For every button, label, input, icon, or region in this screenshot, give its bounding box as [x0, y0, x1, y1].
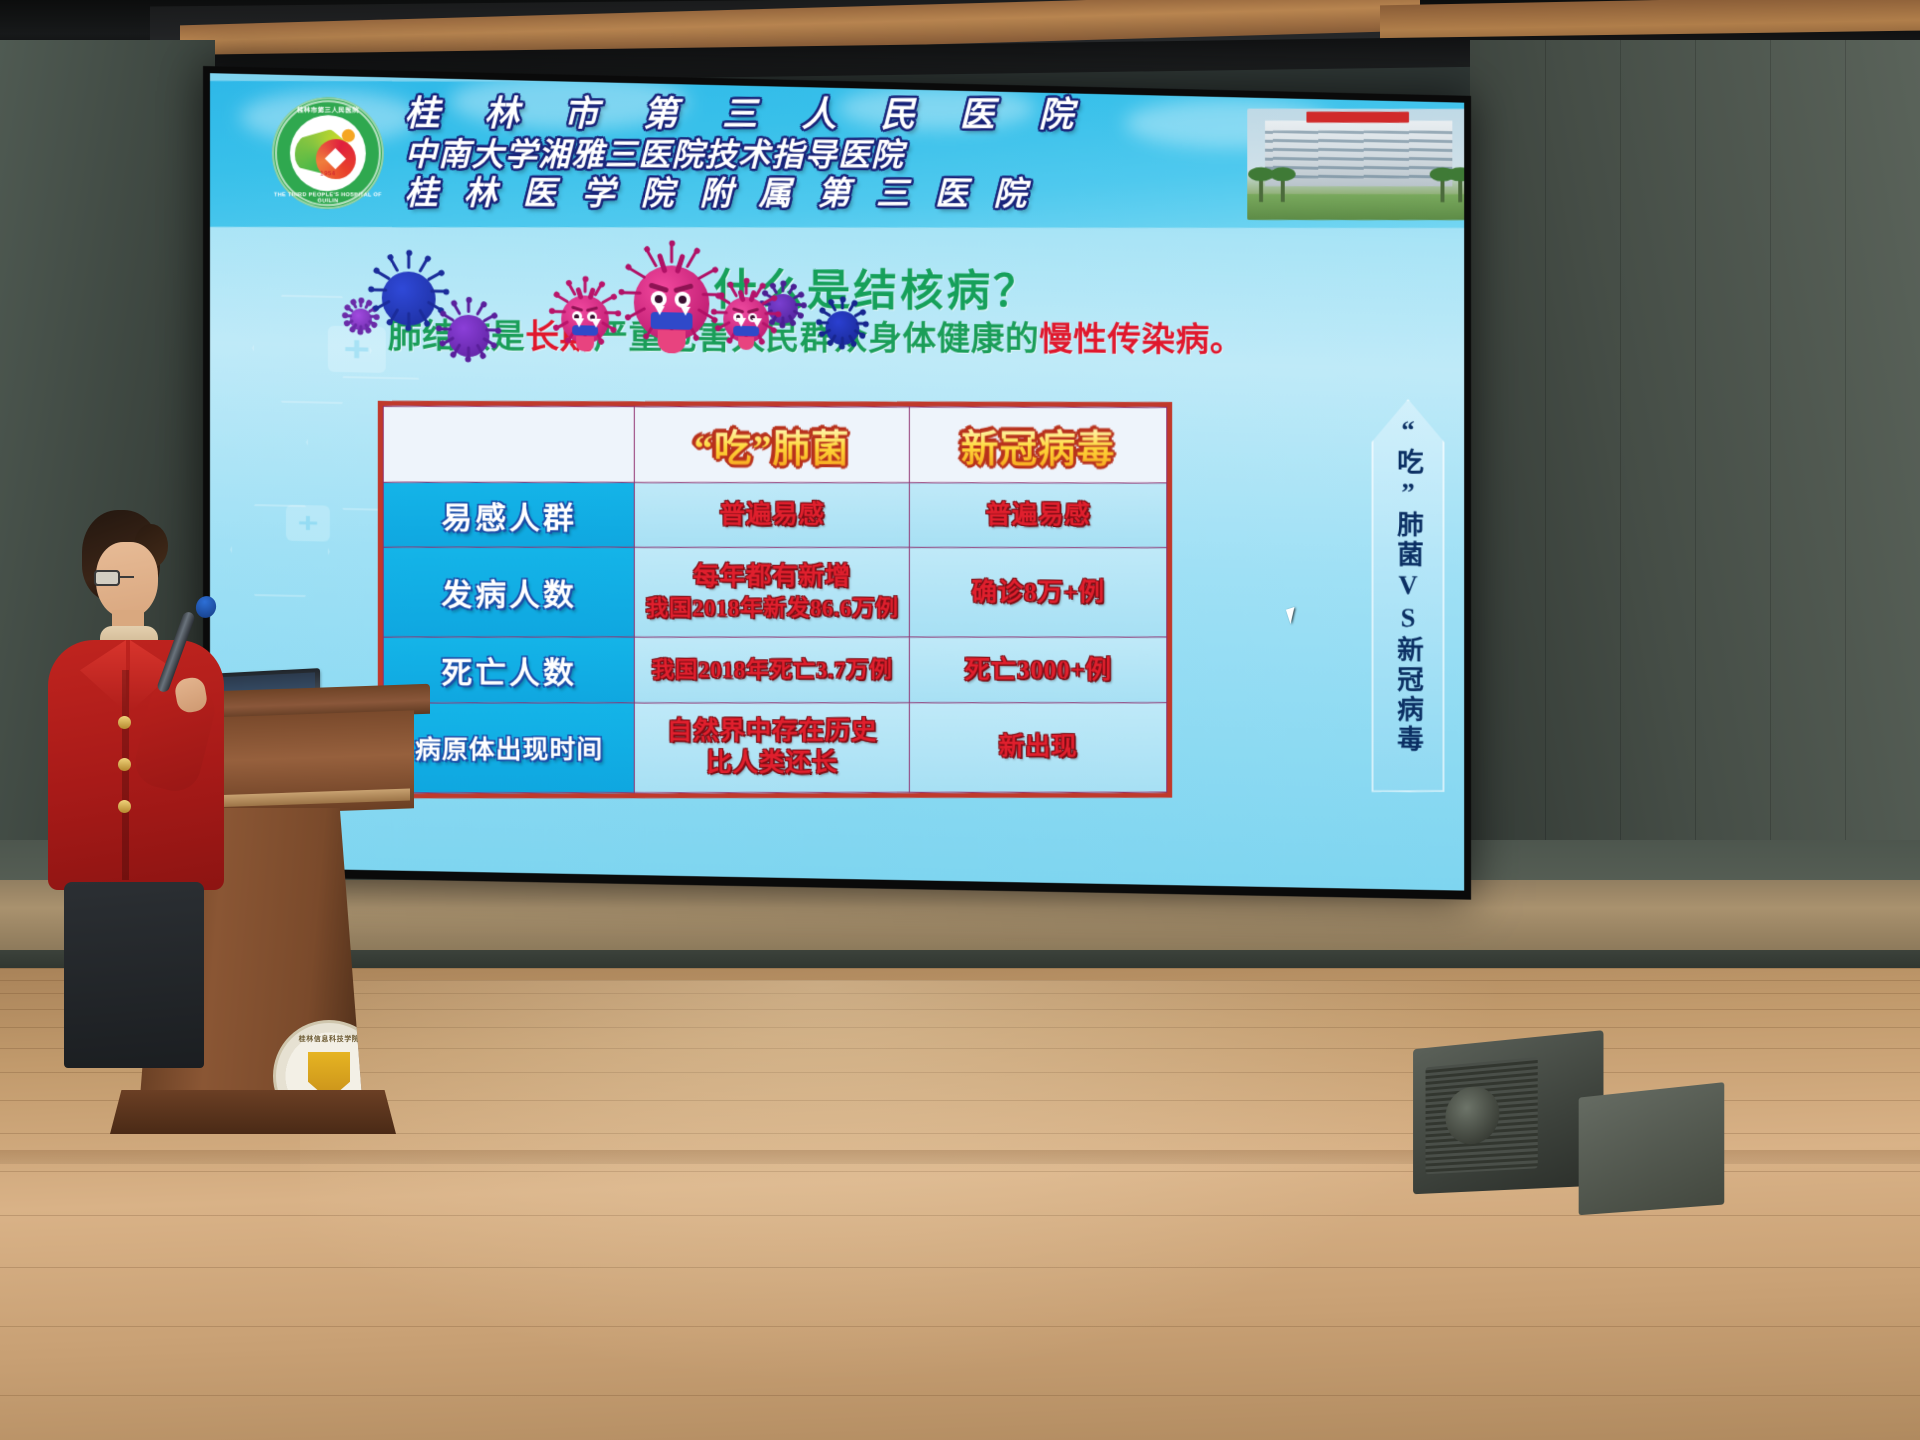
row-label: 死亡人数 — [441, 656, 576, 691]
hospital-name-block: 桂 林 市 第 三 人 民 医 院 中南大学湘雅三医院技术指导医院 桂 林 医 … — [405, 93, 1199, 216]
side-vertical-banner: “吃”肺菌VS新冠病毒 — [1372, 399, 1445, 792]
floor-light-reflection — [300, 980, 1600, 1440]
table-row: 易感人群 普遍易感 普遍易感 — [383, 482, 1166, 548]
coat-button — [118, 800, 131, 813]
purple-virus-icon — [448, 314, 490, 357]
row-value-cv: 新出现 — [909, 703, 1167, 793]
value-text-line2: 我国2018年新发86.6万例 — [639, 593, 904, 625]
header-cell-tb: “吃”肺菌 — [635, 407, 909, 483]
row-value-tb: 每年都有新增 我国2018年新发86.6万例 — [635, 548, 909, 638]
value-text-line2: 比人类还长 — [639, 748, 904, 780]
header-label-cv: 新冠病毒 — [961, 429, 1115, 471]
slide-header-banner: 桂林市第三人民医院 1954 THE THIRD PEOPLE'S HOSPIT… — [210, 81, 1464, 228]
pink-germ-monster-icon — [561, 295, 609, 344]
hospital-building-photo — [1247, 109, 1464, 220]
row-label: 发病人数 — [441, 578, 576, 613]
wall-panel-seams — [1470, 40, 1920, 940]
row-value-tb: 普遍易感 — [635, 482, 909, 547]
hospital-logo: 桂林市第三人民医院 1954 THE THIRD PEOPLE'S HOSPIT… — [272, 97, 384, 209]
row-label-cell: 易感人群 — [383, 482, 635, 547]
wall-right — [1470, 40, 1920, 940]
header-blank-cell — [383, 406, 635, 482]
row-value-tb: 自然界中存在历史 比人类还长 — [635, 703, 909, 793]
presenter-coat-placket — [122, 670, 129, 880]
row-value-cv: 确诊8万+例 — [909, 548, 1167, 638]
header-cell-cv: 新冠病毒 — [909, 407, 1167, 483]
table-row: 发病人数 每年都有新增 我国2018年新发86.6万例 确诊8万+例 — [383, 547, 1166, 637]
side-banner-text: “吃”肺菌VS新冠病毒 — [1372, 415, 1445, 755]
logo-established-year: 1954 — [290, 171, 366, 177]
subtitle-highlight-2: 慢性传染病 — [1039, 321, 1210, 359]
logo-arc-bottom-text: THE THIRD PEOPLE'S HOSPITAL OF GUILIN — [272, 192, 384, 204]
auditorium-room: 桂林市第三人民医院 1954 THE THIRD PEOPLE'S HOSPIT… — [0, 0, 1920, 1440]
loudspeaker-cabinet — [1413, 1030, 1603, 1194]
presenter-glasses — [94, 570, 160, 586]
row-label: 病原体出现时间 — [415, 735, 603, 764]
podium-base — [110, 1090, 396, 1134]
coat-button — [118, 758, 131, 771]
row-value-cv: 普遍易感 — [909, 483, 1167, 548]
table-row: 死亡人数 我国2018年死亡3.7万例 死亡3000+例 — [383, 638, 1166, 703]
table-row: 病原体出现时间 自然界中存在历史 比人类还长 新出现 — [383, 703, 1166, 793]
loudspeaker-cabinet-secondary — [1579, 1082, 1725, 1215]
value-text: 我国2018年死亡3.7万例 — [651, 657, 892, 682]
value-text-line1: 自然界中存在历史 — [639, 716, 904, 748]
purple-virus-icon — [826, 311, 860, 346]
row-label-cell: 发病人数 — [383, 547, 635, 637]
presenter-lower-body — [64, 882, 204, 1068]
microphone-head — [193, 593, 219, 621]
row-label: 易感人群 — [441, 500, 576, 535]
value-text: 新出现 — [999, 732, 1078, 761]
pink-germ-monster-icon — [634, 265, 710, 342]
header-label-tb: “吃”肺菌 — [694, 428, 850, 470]
hospital-name-line-2: 中南大学湘雅三医院技术指导医院 — [405, 134, 1199, 175]
value-text: 确诊8万+例 — [971, 578, 1104, 607]
coat-button — [118, 716, 131, 729]
table-header-row: “吃”肺菌 新冠病毒 — [383, 406, 1166, 483]
row-value-tb: 我国2018年死亡3.7万例 — [635, 638, 909, 703]
hospital-name-line-1: 桂 林 市 第 三 人 民 医 院 — [405, 93, 1199, 135]
pink-germ-monster-icon — [723, 297, 769, 344]
slide-subtitle: 肺结核是长期严重危害人民群众身体健康的慢性传染病。 — [388, 309, 1458, 363]
comparison-table: “吃”肺菌 新冠病毒 易感人群 普遍易感 — [378, 401, 1172, 799]
purple-virus-icon — [382, 271, 436, 326]
logo-arc-top-text: 桂林市第三人民医院 — [272, 104, 384, 114]
value-text: 死亡3000+例 — [964, 655, 1111, 684]
hospital-name-line-3: 桂 林 医 学 院 附 属 第 三 医 院 — [405, 174, 1199, 216]
presenter — [30, 510, 240, 1070]
value-text-line1: 每年都有新增 — [639, 561, 904, 593]
value-text: 普遍易感 — [719, 500, 824, 529]
subtitle-part-3: 。 — [1210, 322, 1244, 359]
value-text: 普遍易感 — [985, 500, 1090, 529]
purple-virus-icon — [350, 308, 372, 330]
row-value-cv: 死亡3000+例 — [909, 638, 1167, 703]
